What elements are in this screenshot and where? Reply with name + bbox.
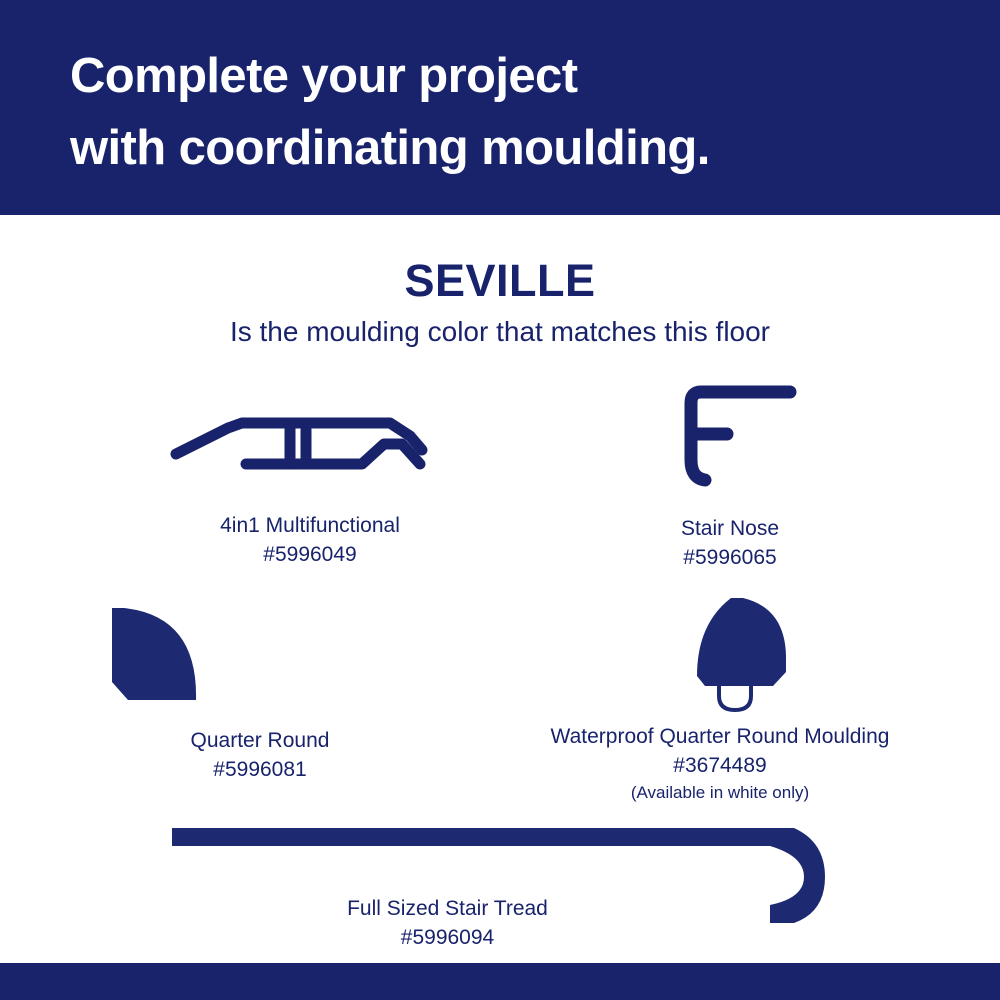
moulding-profile-stair-nose-icon <box>675 382 805 487</box>
moulding-profile-waterproof-quarter-round-icon <box>685 594 805 712</box>
product-label-block-quarter-round: Quarter Round #5996081 <box>60 726 460 784</box>
product-label-block-stair-nose: Stair Nose #5996065 <box>510 514 950 572</box>
product-sku-4in1: #5996049 <box>60 540 560 569</box>
moulding-info-graphic: Complete your project with coordinating … <box>0 0 1000 1000</box>
waterproof-quarter-round-body <box>697 598 786 686</box>
product-label-block-waterproof-quarter-round: Waterproof Quarter Round Moulding #36744… <box>490 722 950 806</box>
product-sku-waterproof-quarter-round: #3674489 <box>490 751 950 780</box>
collection-name: SEVILLE <box>0 255 1000 307</box>
product-cell-stair-tread: Full Sized Stair Tread #5996094 <box>0 822 1000 952</box>
product-cell-stair-nose: Stair Nose #5996065 <box>500 382 950 572</box>
moulding-profile-4in1-icon <box>170 392 430 484</box>
quarter-round-body <box>112 608 196 700</box>
product-name-stair-tread: Full Sized Stair Tread <box>0 894 1000 923</box>
product-cell-waterproof-quarter-round: Waterproof Quarter Round Moulding #36744… <box>490 594 950 806</box>
product-sku-stair-nose: #5996065 <box>510 543 950 572</box>
waterproof-quarter-round-channel <box>719 682 751 710</box>
moulding-profile-quarter-round-icon <box>90 604 200 704</box>
product-note-waterproof-quarter-round: (Available in white only) <box>490 780 950 806</box>
product-sku-stair-tread: #5996094 <box>0 923 1000 952</box>
product-name-quarter-round: Quarter Round <box>60 726 460 755</box>
headline-line-2: with coordinating moulding. <box>70 112 1000 184</box>
product-name-waterproof-quarter-round: Waterproof Quarter Round Moulding <box>490 722 950 751</box>
product-sku-quarter-round: #5996081 <box>60 755 460 784</box>
product-label-block-stair-tread: Full Sized Stair Tread #5996094 <box>0 894 1000 952</box>
collection-title-block: SEVILLE Is the moulding color that match… <box>0 255 1000 350</box>
product-name-stair-nose: Stair Nose <box>510 514 950 543</box>
headline-line-1: Complete your project <box>70 40 1000 112</box>
collection-subtitle: Is the moulding color that matches this … <box>0 314 1000 350</box>
product-cell-quarter-round: Quarter Round #5996081 <box>60 604 460 784</box>
product-label-block-4in1: 4in1 Multifunctional #5996049 <box>60 511 560 569</box>
product-name-4in1: 4in1 Multifunctional <box>60 511 560 540</box>
header-banner: Complete your project with coordinating … <box>0 0 1000 215</box>
footer-strip <box>0 963 1000 1000</box>
product-cell-4in1: 4in1 Multifunctional #5996049 <box>60 392 560 569</box>
